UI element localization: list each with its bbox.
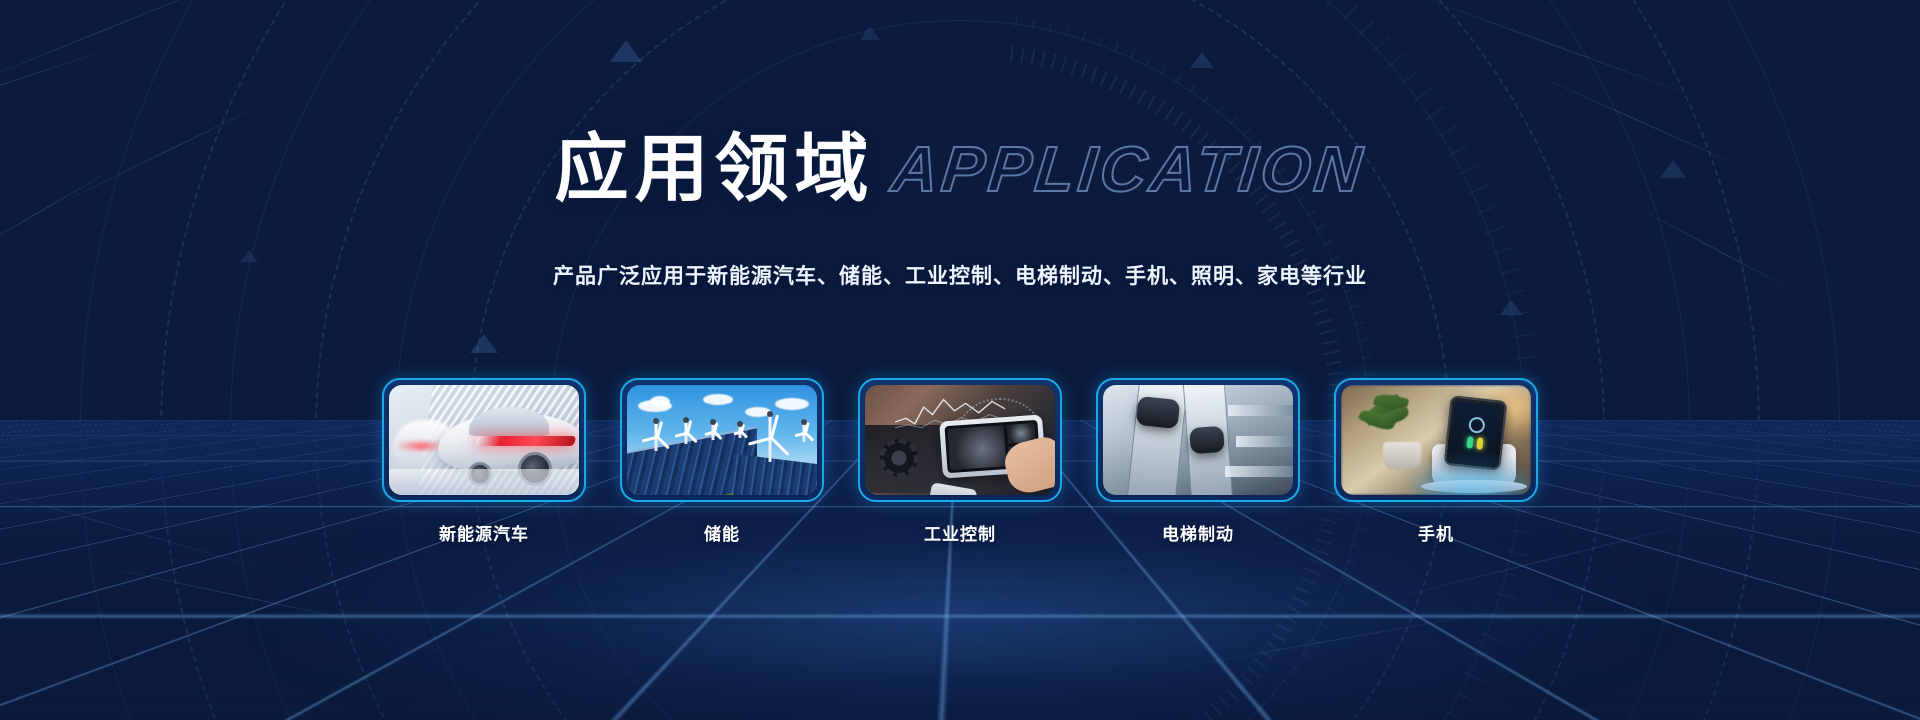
application-card-elevator[interactable]: 电梯制动 bbox=[1096, 378, 1300, 545]
application-banner: 应用领域 APPLICATION 产品广泛应用于新能源汽车、储能、工业控制、电梯… bbox=[0, 0, 1920, 720]
solar-wind-farm-photo bbox=[627, 385, 817, 495]
page-title-english: APPLICATION bbox=[889, 137, 1369, 201]
card-label: 工业控制 bbox=[924, 520, 996, 545]
page-subtitle: 产品广泛应用于新能源汽车、储能、工业控制、电梯制动、手机、照明、家电等行业 bbox=[0, 260, 1920, 290]
card-frame[interactable] bbox=[858, 378, 1062, 502]
application-card-industrial-control[interactable]: 工业控制 bbox=[858, 378, 1062, 545]
application-card-energy-storage[interactable]: 储能 bbox=[620, 378, 824, 545]
card-label: 电梯制动 bbox=[1162, 520, 1234, 545]
card-label: 新能源汽车 bbox=[439, 520, 529, 545]
card-label: 储能 bbox=[704, 520, 740, 545]
banner-content: 应用领域 APPLICATION 产品广泛应用于新能源汽车、储能、工业控制、电梯… bbox=[0, 0, 1920, 720]
card-label: 手机 bbox=[1418, 520, 1454, 545]
ev-car-photo bbox=[389, 385, 579, 495]
card-frame[interactable] bbox=[1096, 378, 1300, 502]
application-card-phone[interactable]: 手机 bbox=[1334, 378, 1538, 545]
card-frame[interactable] bbox=[1334, 378, 1538, 502]
title-row: 应用领域 APPLICATION bbox=[0, 132, 1920, 206]
industrial-control-tablet-photo bbox=[865, 385, 1055, 495]
card-frame[interactable] bbox=[620, 378, 824, 502]
smartphone-wireless-charger-photo bbox=[1341, 385, 1531, 495]
elevator-shaft-photo bbox=[1103, 385, 1293, 495]
application-card-list: 新能源汽车 储能 bbox=[0, 378, 1920, 545]
page-title: 应用领域 bbox=[554, 132, 874, 206]
application-card-ev[interactable]: 新能源汽车 bbox=[382, 378, 586, 545]
card-frame[interactable] bbox=[382, 378, 586, 502]
